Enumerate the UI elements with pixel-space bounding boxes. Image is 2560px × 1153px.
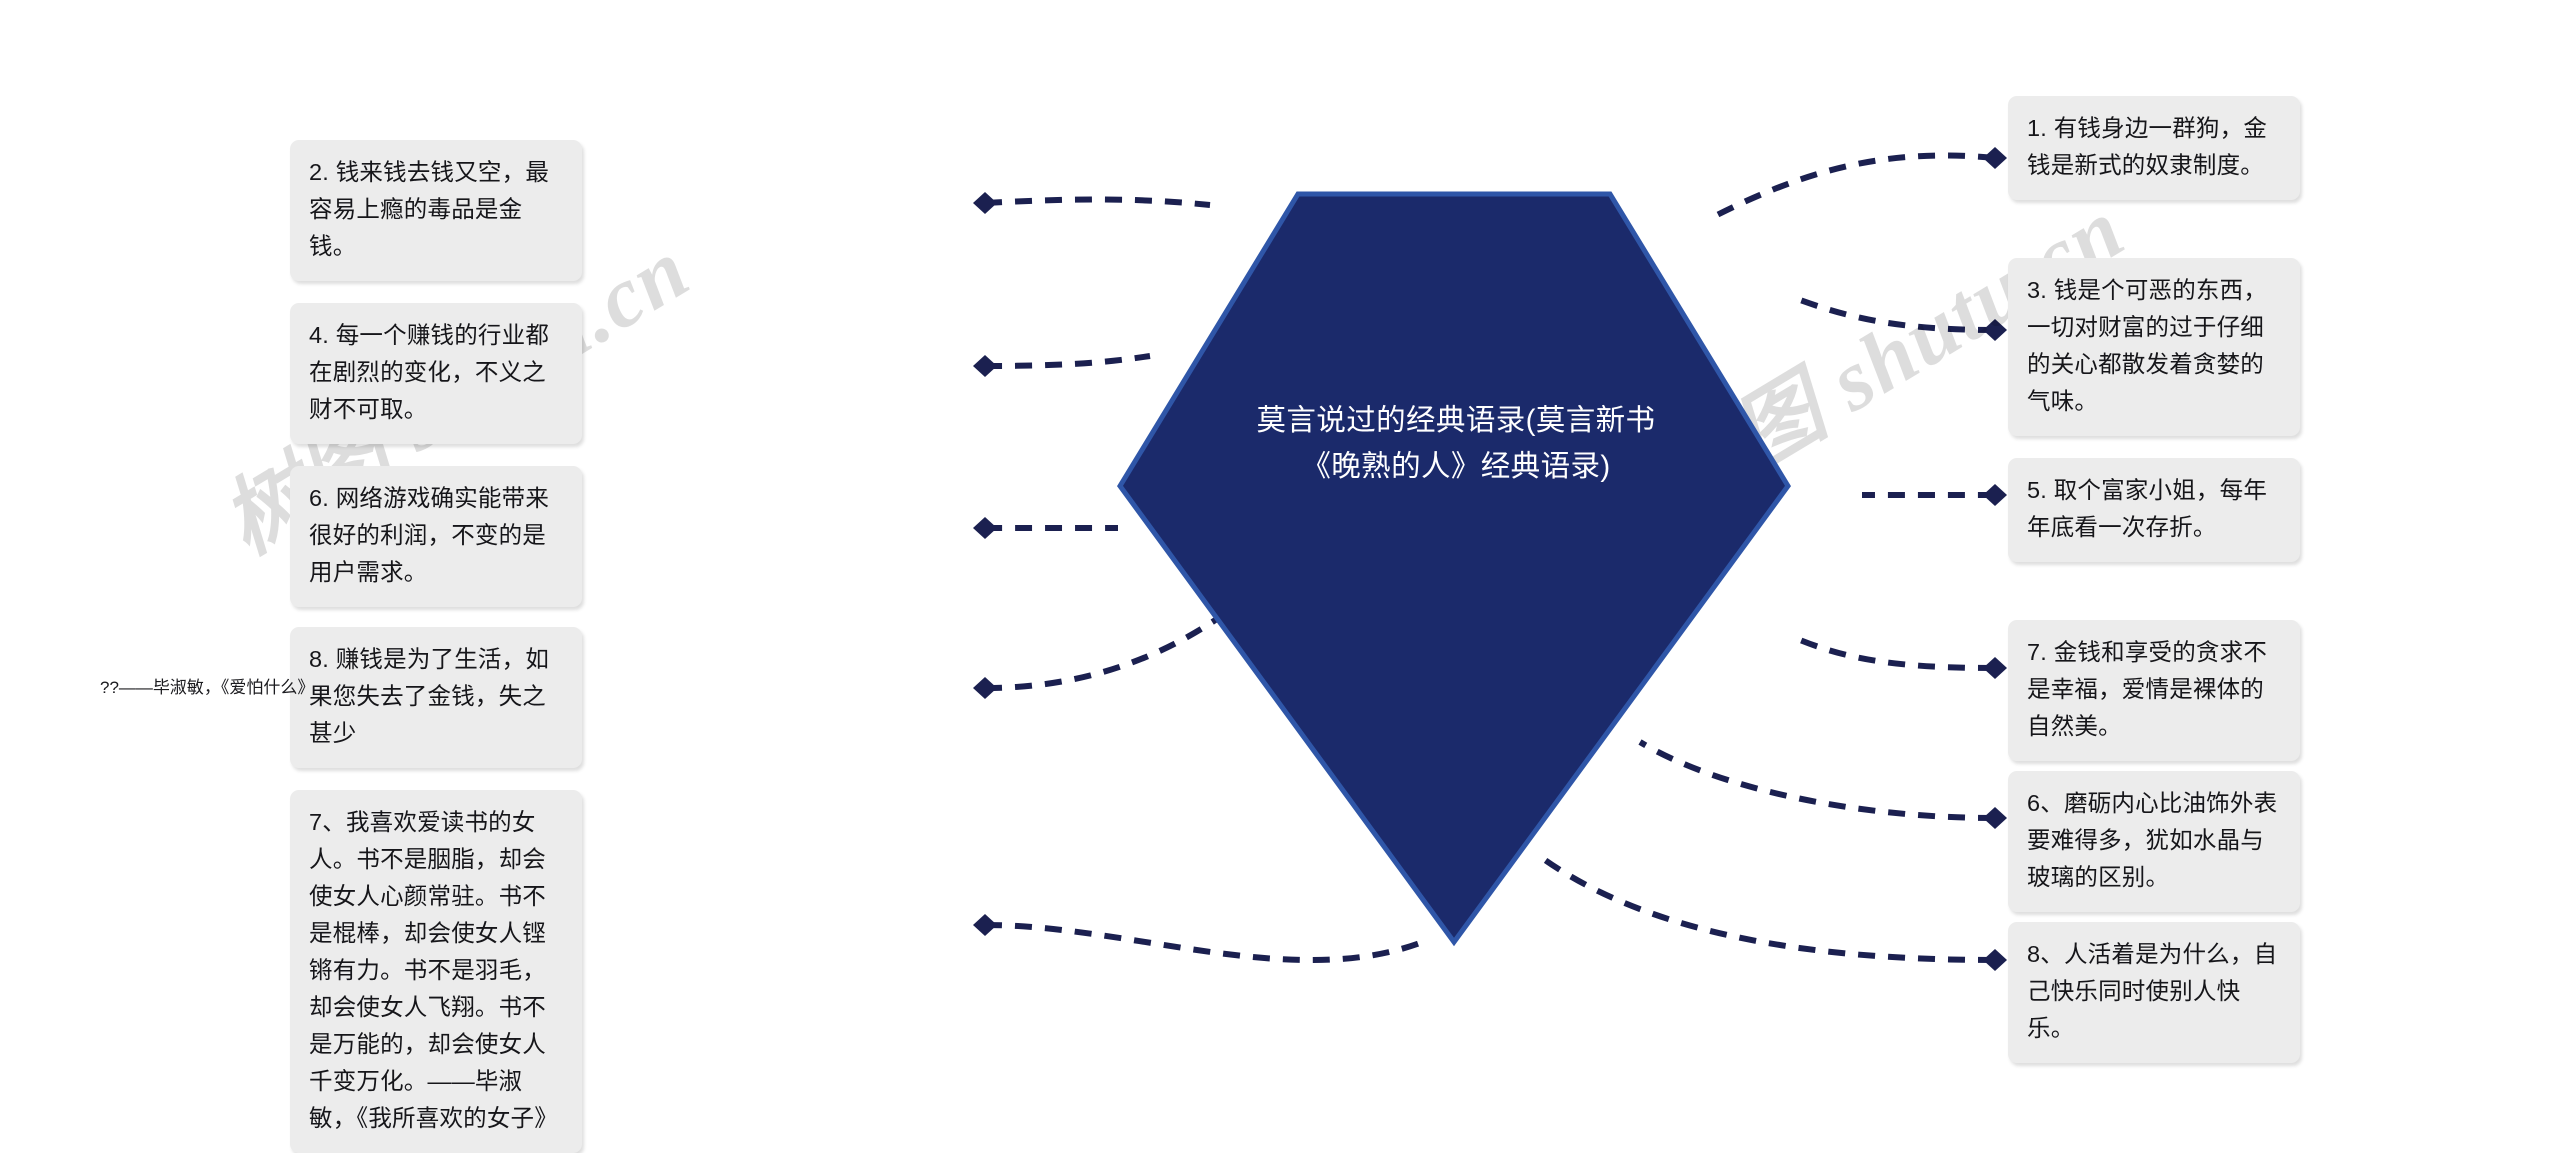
pentagon-shape (1098, 186, 1810, 950)
marker-left-5 (973, 914, 997, 936)
branch-node-left-2[interactable]: 4. 每一个赚钱的行业都在剧烈的变化，不义之财不可取。 (290, 303, 582, 444)
branch-node-right-2[interactable]: 3. 钱是个可恶的东西，一切对财富的过于仔细的关心都散发着贪婪的气味。 (2008, 258, 2300, 436)
branch-node-right-1[interactable]: 1. 有钱身边一群狗，金钱是新式的奴隶制度。 (2008, 96, 2300, 200)
connector-right-2 (1800, 300, 1995, 330)
marker-left-4 (973, 677, 997, 699)
branch-node-left-4[interactable]: 8. 赚钱是为了生活，如果您失去了金钱，失之甚少 (290, 627, 582, 768)
branch-node-right-6[interactable]: 8、人活着是为什么，自己快乐同时使别人快乐。 (2008, 922, 2300, 1063)
branch-node-right-3[interactable]: 5. 取个富家小姐，每年年底看一次存折。 (2008, 458, 2300, 562)
center-node[interactable]: 莫言说过的经典语录(莫言新书《晚熟的人》经典语录) (1098, 186, 1810, 950)
marker-right-1 (1983, 147, 2007, 169)
marker-right-4 (1983, 657, 2007, 679)
marker-right-2 (1983, 319, 2007, 341)
branch-node-left-3[interactable]: 6. 网络游戏确实能带来很好的利润，不变的是用户需求。 (290, 466, 582, 607)
connector-right-4 (1800, 640, 1995, 668)
marker-right-3 (1983, 484, 2007, 506)
branch-node-right-4[interactable]: 7. 金钱和享受的贪求不是幸福，爱情是裸体的自然美。 (2008, 620, 2300, 761)
branch-caption-left: ??——毕淑敏，《爱怕什么》 (100, 676, 314, 700)
marker-left-3 (973, 517, 997, 539)
marker-left-1 (973, 192, 997, 214)
branch-node-right-5[interactable]: 6、磨砺内心比油饰外表要难得多，犹如水晶与玻璃的区别。 (2008, 771, 2300, 912)
branch-node-left-1[interactable]: 2. 钱来钱去钱又空，最容易上瘾的毒品是金钱。 (290, 140, 582, 281)
mindmap-canvas: .wire{fill:none;stroke:#1b2050;stroke-wi… (0, 0, 2560, 1141)
marker-right-5 (1983, 807, 2007, 829)
marker-left-2 (973, 355, 997, 377)
center-title: 莫言说过的经典语录(莫言新书《晚熟的人》经典语录) (1236, 398, 1676, 490)
marker-right-6 (1983, 949, 2007, 971)
branch-node-left-5[interactable]: 7、我喜欢爱读书的女人。书不是胭脂，却会使女人心颜常驻。书不是棍棒，却会使女人铿… (290, 790, 582, 1153)
